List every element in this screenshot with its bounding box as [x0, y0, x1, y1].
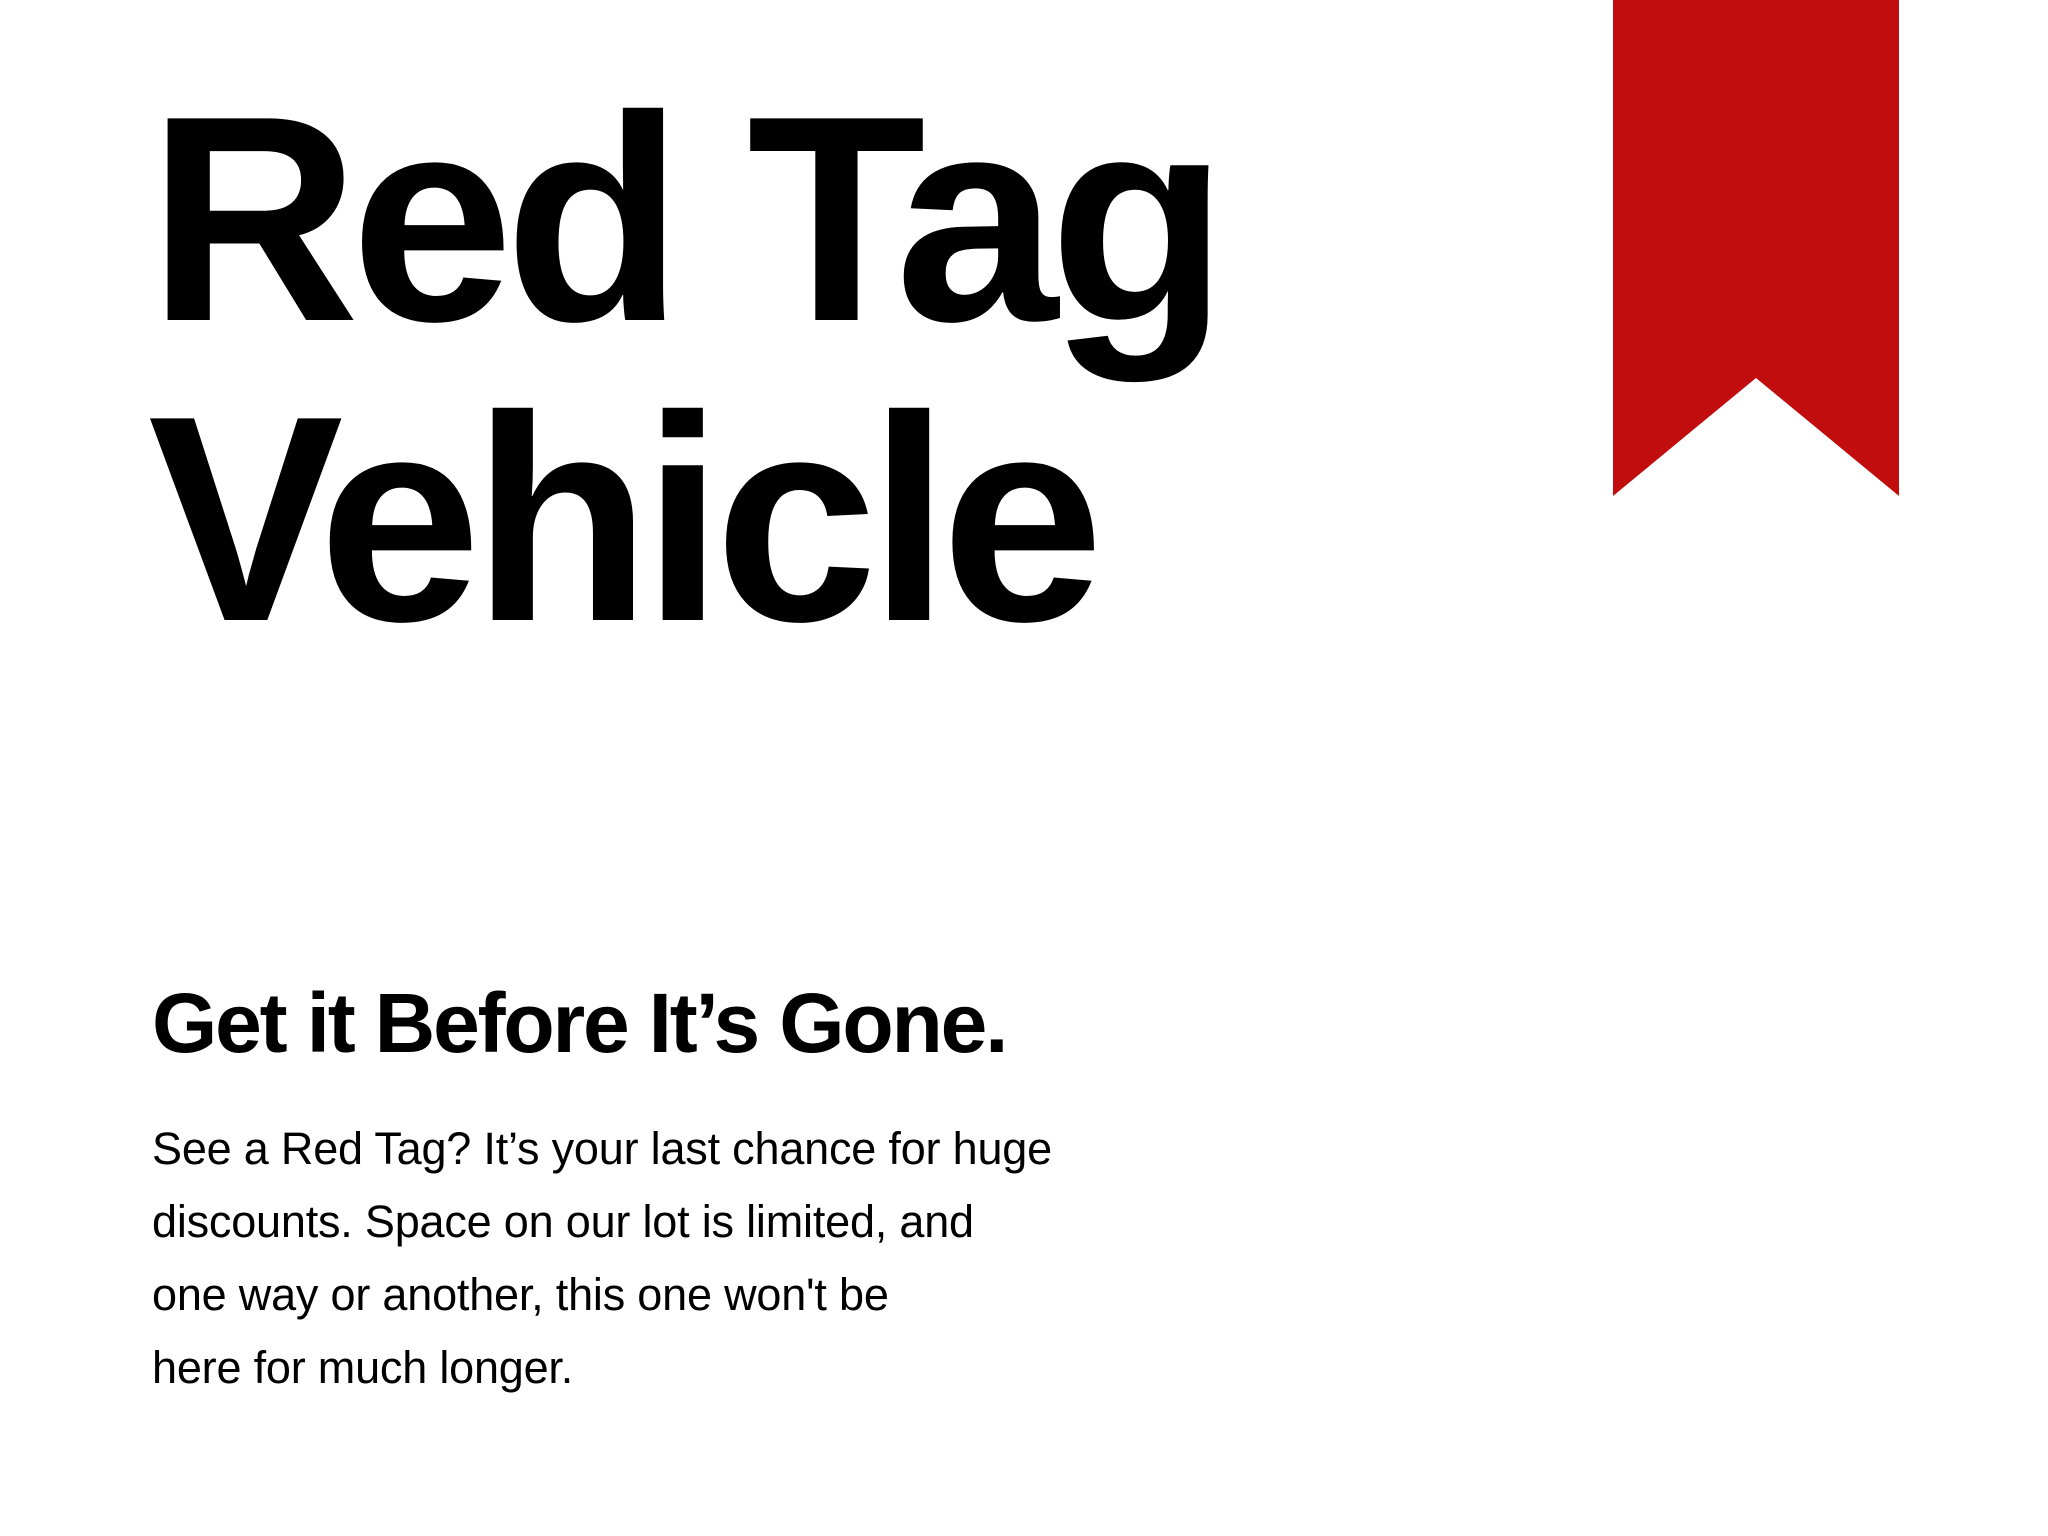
ribbon-shape [1613, 0, 1899, 496]
body-line-3: one way or another, this one won't be [152, 1258, 1052, 1331]
red-tag-ribbon [1613, 0, 1899, 496]
subheading: Get it Before It’s Gone. [152, 975, 1006, 1071]
body-line-1: See a Red Tag? It’s your last chance for… [152, 1112, 1052, 1185]
headline-line-1: Red Tag [148, 70, 1219, 370]
page-title: Red Tag Vehicle [148, 70, 1219, 670]
body-paragraph: See a Red Tag? It’s your last chance for… [152, 1112, 1052, 1404]
headline-line-2: Vehicle [148, 370, 1219, 670]
body-line-4: here for much longer. [152, 1331, 1052, 1404]
red-tag-ribbon-icon [1613, 0, 1899, 496]
body-line-2: discounts. Space on our lot is limited, … [152, 1185, 1052, 1258]
red-tag-vehicle-poster: Red Tag Vehicle Get it Before It’s Gone.… [0, 0, 2048, 1536]
